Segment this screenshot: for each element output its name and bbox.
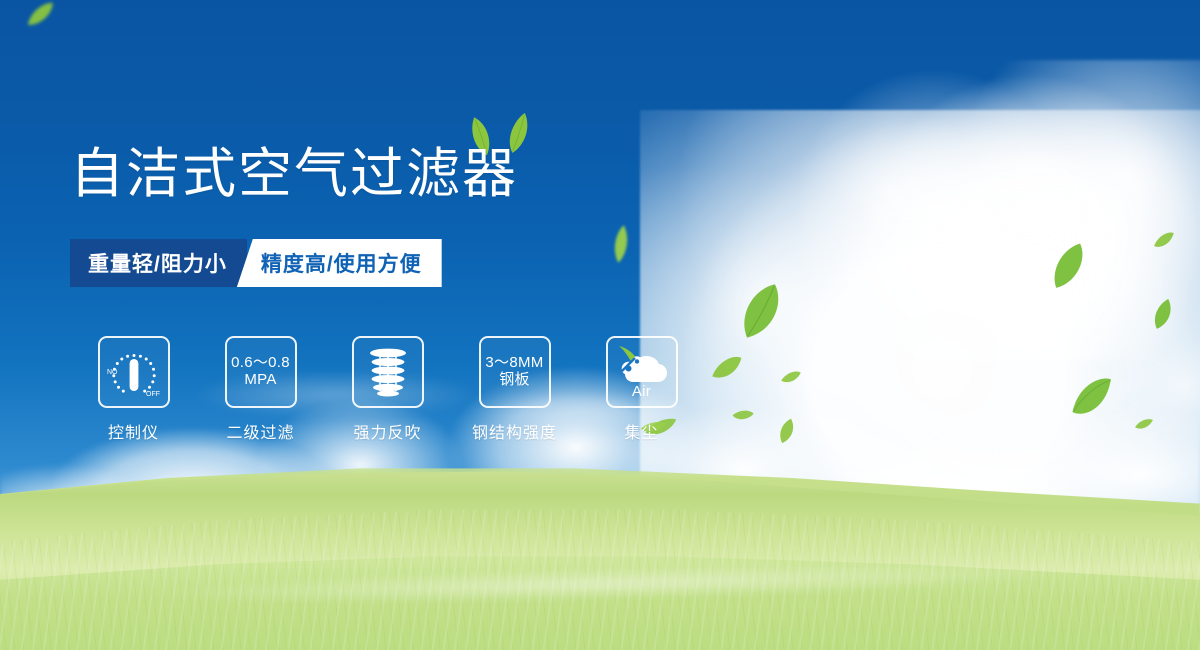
page-title: 自洁式空气过滤器: [70, 147, 518, 201]
feature-label: 二级过滤: [226, 419, 294, 443]
subtitle-badge-secondary: 精度高/使用方便: [237, 239, 442, 287]
svg-text:OFF: OFF: [146, 391, 160, 398]
feature-item-blowback[interactable]: 强力反吹: [324, 336, 451, 443]
cloud-air-icon: Air: [606, 336, 678, 408]
banner-content: 自洁式空气过滤器 重量轻/阻力小 精度高/使用方便: [0, 0, 1200, 650]
subtitle-bar: 重量轻/阻力小 精度高/使用方便: [70, 239, 442, 287]
feature-item-steel-strength[interactable]: 3〜8MM 钢板 钢结构强度: [451, 336, 578, 443]
feature-item-controller[interactable]: NO OFF 控制仪: [70, 336, 197, 443]
coil-spring-icon: [352, 336, 424, 408]
subtitle-badge-primary: 重量轻/阻力小: [70, 239, 247, 287]
air-label: Air: [632, 384, 651, 401]
feature-item-secondary-filter[interactable]: 0.6〜0.8 MPA 二级过滤: [197, 336, 324, 443]
pressure-text-icon: 0.6〜0.8 MPA: [225, 336, 297, 408]
svg-text:NO: NO: [107, 369, 118, 376]
feature-label: 钢结构强度: [472, 419, 557, 443]
pressure-value: 0.6〜0.8: [231, 355, 290, 372]
feature-label: 强力反吹: [353, 419, 421, 443]
gauge-dial-icon: NO OFF: [98, 336, 170, 408]
steel-plate-text-icon: 3〜8MM 钢板: [479, 336, 551, 408]
product-banner: 自洁式空气过滤器 重量轻/阻力小 精度高/使用方便: [0, 0, 1200, 650]
feature-list: NO OFF 控制仪 0.6〜0.8 MPA 二级过滤: [70, 336, 705, 443]
pressure-unit: MPA: [244, 372, 276, 389]
steel-thickness: 3〜8MM: [485, 355, 543, 372]
feature-label: 集尘: [624, 419, 658, 443]
steel-material: 钢板: [499, 372, 530, 389]
feature-label: 控制仪: [108, 419, 159, 443]
feature-item-dust-collection[interactable]: Air 集尘: [578, 336, 705, 443]
